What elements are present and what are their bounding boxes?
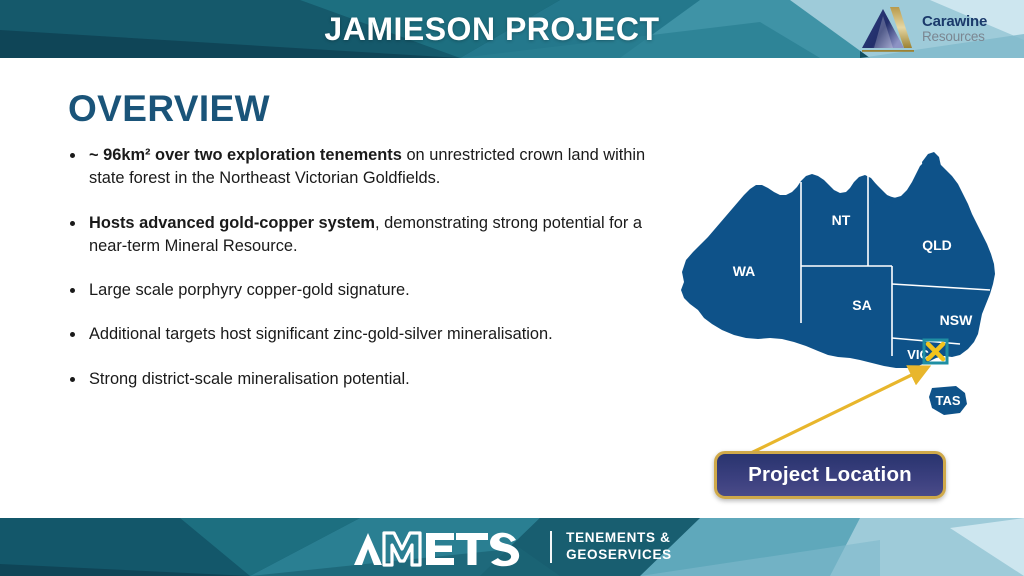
australia-map: WA NT QLD SA NSW VIC TAS — [660, 148, 1020, 438]
state-label-qld: QLD — [922, 237, 952, 253]
slide-header: JAMIESON PROJECT — [0, 0, 1024, 58]
list-item-bold: Hosts advanced gold-copper system — [89, 214, 375, 232]
state-label-wa: WA — [733, 263, 756, 279]
carawine-logo: Carawine Resources — [860, 3, 1008, 55]
amets-logo: TENEMENTS & GEOSERVICES — [0, 518, 1024, 576]
state-label-nt: NT — [832, 212, 851, 228]
carawine-subtitle: Resources — [922, 30, 987, 44]
tagline-line-2: GEOSERVICES — [566, 547, 672, 564]
bullet-dot-icon — [70, 153, 75, 158]
slide-body: OVERVIEW ~ 96km² over two exploration te… — [0, 58, 1024, 518]
carawine-wordmark: Carawine Resources — [922, 14, 987, 44]
section-title: OVERVIEW — [68, 88, 270, 130]
tagline-line-1: TENEMENTS & — [566, 530, 672, 547]
bullet-dot-icon — [70, 377, 75, 382]
list-item: Large scale porphyry copper-gold signatu… — [66, 279, 646, 302]
amets-tagline: TENEMENTS & GEOSERVICES — [566, 530, 672, 564]
list-item-text: Strong district-scale mineralisation pot… — [89, 370, 410, 388]
bullet-dot-icon — [70, 332, 75, 337]
list-item: ~ 96km² over two exploration tenements o… — [66, 144, 646, 191]
project-location-callout[interactable]: Project Location — [714, 451, 946, 499]
list-item-text: Additional targets host significant zinc… — [89, 325, 553, 343]
list-item-text: Large scale porphyry copper-gold signatu… — [89, 281, 410, 299]
map-landmass — [681, 152, 995, 368]
slide: JAMIESON PROJECT — [0, 0, 1024, 576]
state-label-sa: SA — [852, 297, 871, 313]
list-item: Hosts advanced gold-copper system, demon… — [66, 212, 646, 259]
list-item: Strong district-scale mineralisation pot… — [66, 368, 646, 391]
logo-divider — [550, 531, 552, 563]
state-label-nsw: NSW — [940, 312, 973, 328]
list-item: Additional targets host significant zinc… — [66, 323, 646, 346]
australia-map-svg: WA NT QLD SA NSW VIC TAS — [660, 148, 1020, 438]
list-item-bold: ~ 96km² over two exploration tenements — [89, 146, 402, 164]
amets-wordmark-icon — [352, 527, 538, 567]
bullet-dot-icon — [70, 288, 75, 293]
carawine-triangle-icon — [860, 4, 916, 54]
state-label-tas: TAS — [935, 393, 960, 408]
bullet-dot-icon — [70, 221, 75, 226]
callout-label: Project Location — [748, 463, 912, 487]
overview-bullet-list: ~ 96km² over two exploration tenements o… — [66, 144, 646, 391]
carawine-name: Carawine — [922, 14, 987, 30]
slide-footer: TENEMENTS & GEOSERVICES — [0, 518, 1024, 576]
